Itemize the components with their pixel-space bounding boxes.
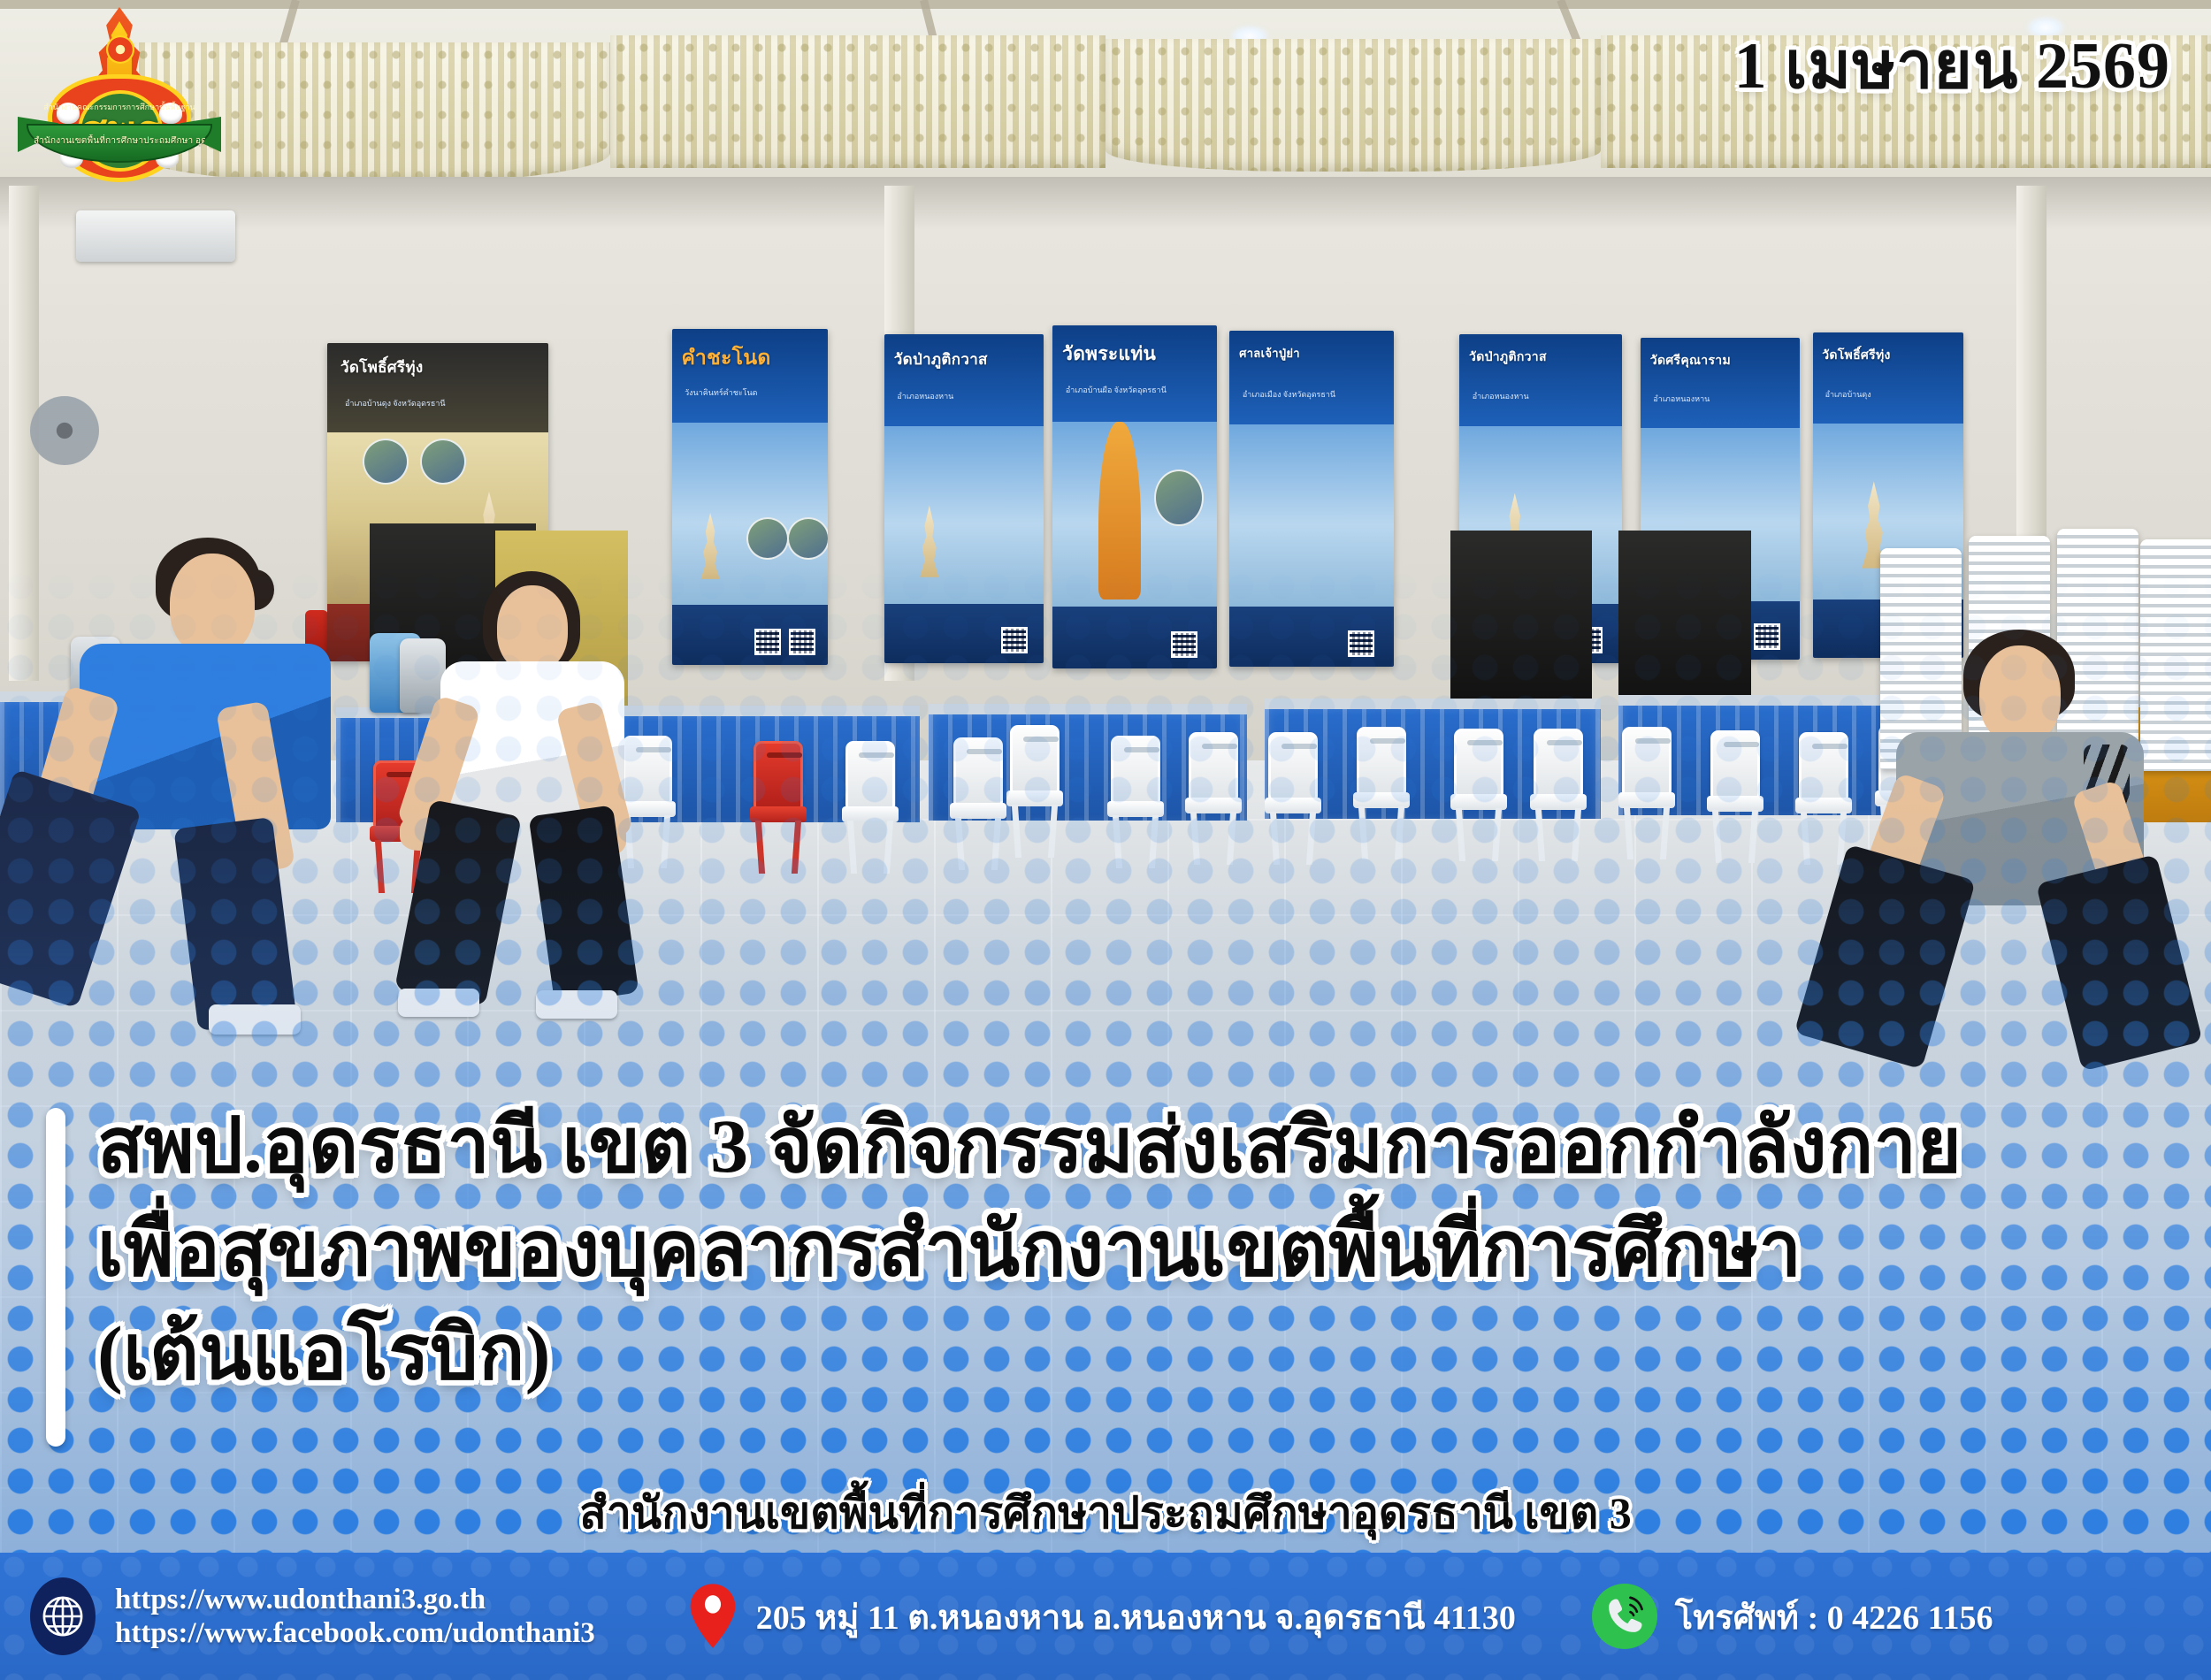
office-address: 205 หมู่ 11 ต.หนองหาน อ.หนองหาน จ.อุดรธา… <box>756 1590 1516 1644</box>
event-date: 1 เมษายน 2569 <box>1734 12 2170 117</box>
banner-title: วัดศรีคุณาราม <box>1650 351 1790 370</box>
wall-fan <box>30 396 99 465</box>
banner-subtitle: อำเภอบ้านผือ จังหวัดอุดรธานี <box>1066 384 1204 396</box>
poster-root: วัดโพธิ์ศรีทุ่ง อำเภอบ้านดุง จังหวัดอุดร… <box>0 0 2211 1680</box>
headline-line-2: เพื่อสุขภาพของบุคลากรสำนักงานเขตพื้นที่ก… <box>97 1198 2158 1302</box>
banner-photo-circle <box>787 517 828 560</box>
facebook-url[interactable]: https://www.facebook.com/udonthani3 <box>115 1616 595 1650</box>
air-conditioner <box>76 210 235 262</box>
banner-subtitle: วังนาคินทร์คำชะโนด <box>685 386 815 399</box>
wall-shadow <box>0 177 2211 230</box>
address-group: 205 หมู่ 11 ต.หนองหาน อ.หนองหาน จ.อุดรธา… <box>687 1582 1516 1651</box>
banner-title: ศาลเจ้าปู่ย่า <box>1239 344 1384 363</box>
banner-subtitle: อำเภอหนองหาน <box>1653 393 1786 405</box>
banner-subtitle: อำเภอหนองหาน <box>897 390 1030 402</box>
banner-photo-circle <box>1154 470 1204 526</box>
banner-photo-circle <box>420 439 466 485</box>
website-group: https://www.udonthani3.go.th https://www… <box>30 1577 595 1655</box>
globe-icon <box>30 1577 96 1655</box>
phone-group: โทรศัพท์ : 0 4226 1156 <box>1592 1584 1993 1649</box>
headline-line-1: สพป.อุดรธานี เขต 3 จัดกิจกรรมส่งเสริมการ… <box>97 1095 2158 1198</box>
headline-block: สพป.อุดรธานี เขต 3 จัดกิจกรรมส่งเสริมการ… <box>97 1095 2158 1405</box>
banner-title: วัดป่าภูติกวาส <box>1469 347 1612 367</box>
banner-title: วัดป่าภูติกวาส <box>894 347 1034 371</box>
phone-icon <box>1592 1584 1657 1649</box>
headline-line-3: (เต้นแอโรบิก) <box>97 1302 2158 1405</box>
logo-ribbon-text: สำนักงานเขตพื้นที่การศึกษาประถมศึกษา อุด… <box>34 134 205 148</box>
map-pin-icon <box>687 1582 738 1651</box>
event-photo: วัดโพธิ์ศรีทุ่ง อำเภอบ้านดุง จังหวัดอุดร… <box>0 0 2211 1680</box>
banner-subtitle: อำเภอหนองหาน <box>1473 390 1610 402</box>
banner-subtitle: อำเภอบ้านดุง <box>1825 388 1952 401</box>
website-url[interactable]: https://www.udonthani3.go.th <box>115 1583 595 1616</box>
office-phone: โทรศัพท์ : 0 4226 1156 <box>1675 1590 1993 1644</box>
banner-title: วัดโพธิ์ศรีทุ่ง <box>1822 346 1955 365</box>
logo-ribbon: สำนักงานเขตพื้นที่การศึกษาประถมศึกษา อุด… <box>18 115 221 170</box>
headline-accent-bar <box>46 1108 65 1447</box>
ceiling-beam <box>0 0 2211 9</box>
logo-arc-text: สำนักงานคณะกรรมการการศึกษาขั้นพื้นฐาน <box>39 101 200 113</box>
website-links: https://www.udonthani3.go.th https://www… <box>115 1583 595 1651</box>
window-curtain <box>1105 39 1601 172</box>
window-curtain <box>610 35 1105 168</box>
dharma-wheel-icon <box>106 35 134 64</box>
organization-subtitle: สำนักงานเขตพื้นที่การศึกษาประถมศึกษาอุดร… <box>0 1478 2211 1548</box>
banner-subtitle: อำเภอบ้านดุง จังหวัดอุดรธานี <box>345 397 531 409</box>
contact-footer: https://www.udonthani3.go.th https://www… <box>0 1553 2211 1680</box>
banner-photo-circle <box>746 517 789 560</box>
banner-photo-circle <box>363 439 409 485</box>
obec-logo: สพฐ สำนักงานคณะกรรมการการศึกษาขั้นพื้นฐา… <box>18 5 221 169</box>
banner-subtitle: อำเภอเมือง จังหวัดอุดรธานี <box>1243 388 1381 401</box>
banner-title: วัดพระแท่น <box>1062 340 1207 369</box>
banner-title: วัดโพธิ์ศรีทุ่ง <box>340 355 535 379</box>
banner-title: คำชะโนด <box>682 342 819 374</box>
